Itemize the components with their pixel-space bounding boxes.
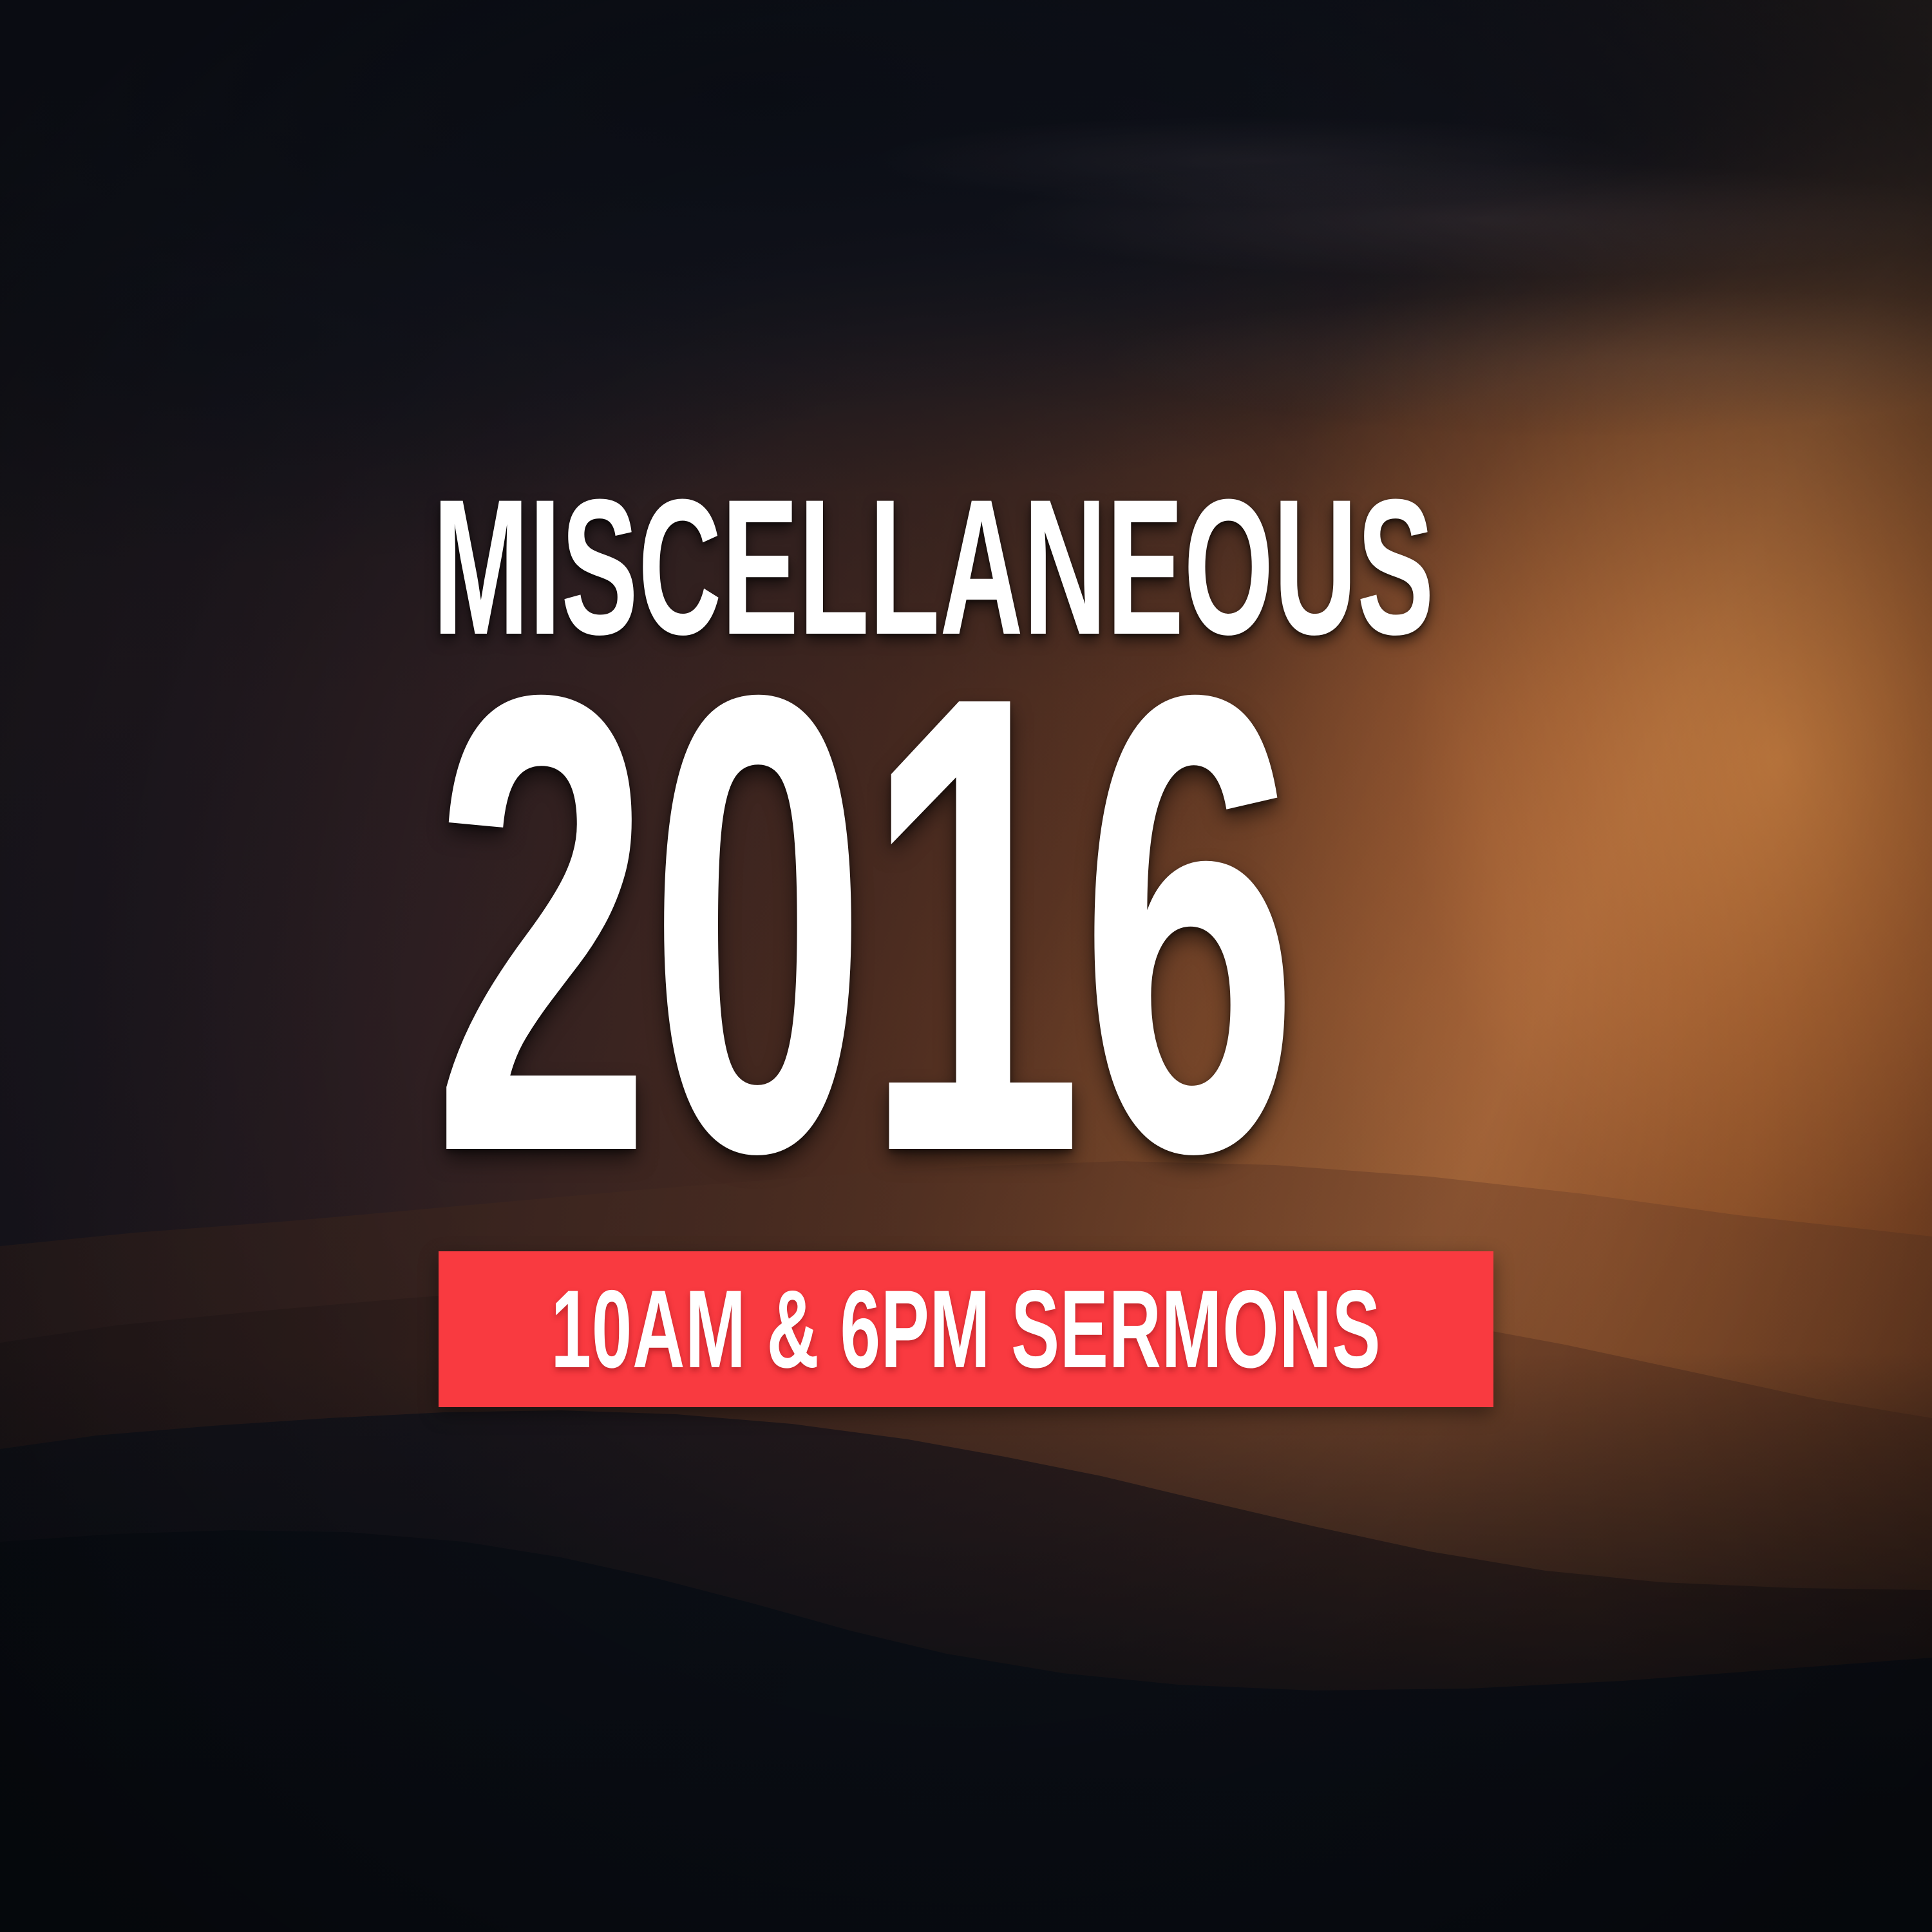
series-year: 2016 [433, 672, 1075, 1177]
title-block: MISCELLANEOUS 2016 [433, 489, 1495, 1177]
service-times-label: 10AM & 6PM SERMONS [551, 1274, 1381, 1385]
sermon-cover-artwork: MISCELLANEOUS 2016 10AM & 6PM SERMONS [0, 0, 1932, 1932]
service-times-banner: 10AM & 6PM SERMONS [439, 1251, 1493, 1407]
